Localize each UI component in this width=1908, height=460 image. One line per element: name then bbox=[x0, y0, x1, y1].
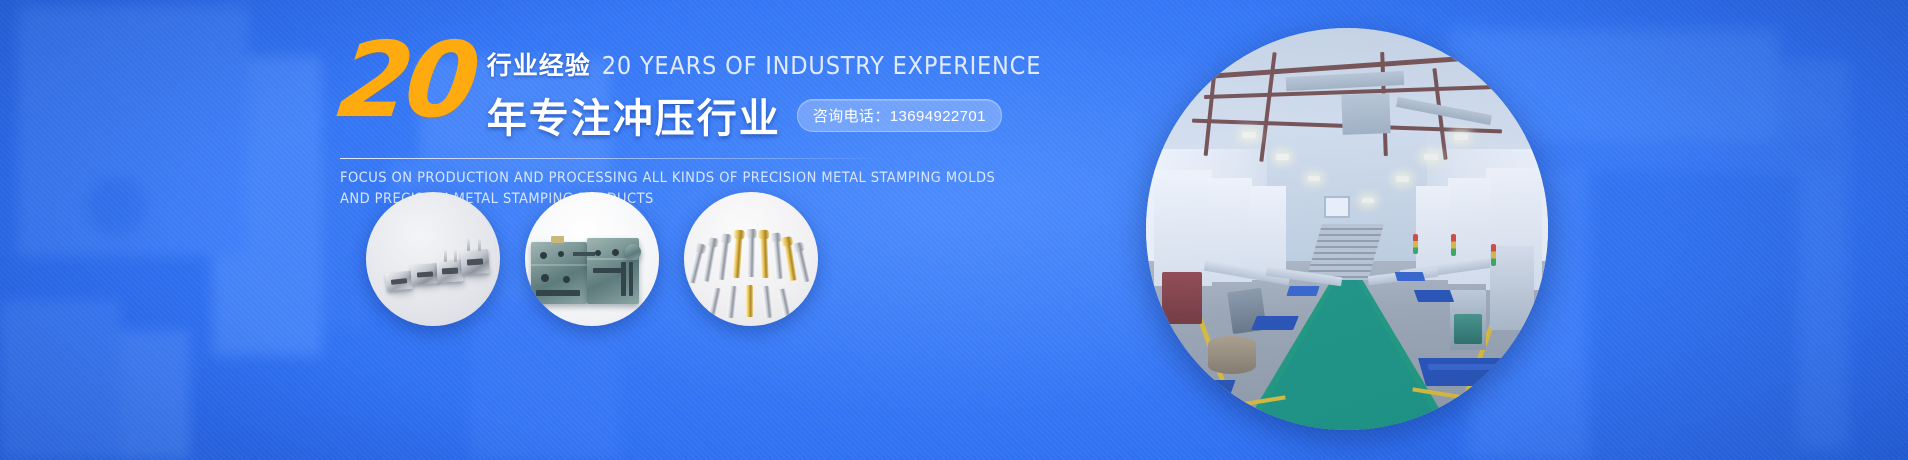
connector-slot bbox=[391, 278, 407, 284]
terminal-pin bbox=[747, 229, 755, 277]
product-circle-group bbox=[366, 192, 818, 326]
ceiling-lamp bbox=[1242, 132, 1256, 138]
terminal-head bbox=[707, 237, 719, 248]
mold-knob bbox=[625, 244, 641, 260]
terminal-pin bbox=[778, 288, 791, 318]
terminal-head bbox=[694, 243, 707, 254]
product-circle-precision-stamping-mold[interactable] bbox=[525, 192, 659, 326]
connector-slot bbox=[416, 271, 433, 277]
mold-slot bbox=[629, 262, 633, 296]
subtitle-line-1: FOCUS ON PRODUCTION AND PROCESSING ALL K… bbox=[340, 168, 1000, 189]
wire-spool bbox=[1208, 336, 1256, 374]
headline-divider bbox=[340, 158, 885, 159]
terminal-head bbox=[770, 233, 782, 243]
connector-pin bbox=[478, 238, 481, 251]
headline-block: 20 行业经验 20 YEARS OF INDUSTRY EXPERIENCE … bbox=[340, 38, 1000, 209]
connector-part bbox=[436, 259, 463, 282]
ceiling-lamp bbox=[1396, 176, 1409, 182]
terminal-head bbox=[720, 233, 732, 243]
mold-hole bbox=[540, 252, 547, 259]
machine-panel-green bbox=[1454, 314, 1482, 344]
promo-banner: 20 行业经验 20 YEARS OF INDUSTRY EXPERIENCE … bbox=[0, 0, 1908, 460]
product-circle-stamped-metal-connectors[interactable] bbox=[366, 192, 500, 326]
mold-hole bbox=[595, 250, 601, 256]
mold-slot bbox=[593, 268, 623, 273]
connector-pin bbox=[454, 250, 457, 262]
mold-slot bbox=[536, 290, 580, 296]
blue-pallet bbox=[1251, 316, 1299, 330]
terminal-head bbox=[781, 236, 793, 247]
air-duct-drop bbox=[1341, 93, 1390, 135]
headline-line-1: 行业经验 20 YEARS OF INDUSTRY EXPERIENCE bbox=[487, 46, 1000, 82]
blue-pallet bbox=[1418, 358, 1518, 386]
terminal-pin bbox=[760, 230, 769, 278]
headline-en-big: 20 YEARS OF INDUSTRY EXPERIENCE bbox=[602, 51, 1041, 80]
andon-light bbox=[1413, 234, 1418, 254]
terminal-pin bbox=[708, 287, 721, 318]
connector-part bbox=[410, 263, 439, 285]
mold-hole bbox=[541, 274, 549, 282]
headline-row: 20 行业经验 20 YEARS OF INDUSTRY EXPERIENCE … bbox=[340, 38, 1000, 144]
terminal-pin bbox=[727, 286, 737, 319]
terminal-pin bbox=[762, 286, 772, 319]
factory-workshop-photo[interactable] bbox=[1146, 28, 1548, 430]
control-cabinet bbox=[1490, 246, 1534, 330]
ceiling-lamp bbox=[1362, 198, 1374, 203]
connector-pin bbox=[467, 238, 470, 251]
blue-pallet bbox=[1414, 290, 1454, 302]
connector-slot bbox=[466, 259, 483, 266]
blue-pallet bbox=[1286, 286, 1319, 296]
headline-cn-small: 行业经验 bbox=[487, 46, 591, 82]
mold-hole bbox=[563, 276, 570, 283]
blue-pallet bbox=[1164, 380, 1235, 400]
mold-hole bbox=[612, 249, 619, 256]
mold-slot bbox=[621, 262, 626, 296]
green-aisle-inner bbox=[1251, 262, 1443, 430]
terminal-head bbox=[746, 229, 757, 238]
terminal-pin bbox=[746, 285, 753, 317]
andon-light bbox=[1491, 244, 1496, 266]
headline-texts: 行业经验 20 YEARS OF INDUSTRY EXPERIENCE 年专注… bbox=[487, 38, 1000, 144]
terminal-head bbox=[733, 230, 745, 240]
mold-rib bbox=[531, 264, 587, 266]
ceiling-lamp bbox=[1308, 176, 1320, 181]
consult-phone-badge[interactable]: 咨询电话：13694922701 bbox=[797, 99, 1002, 132]
terminal-pin bbox=[717, 234, 730, 281]
product-circle-terminal-pins[interactable] bbox=[684, 192, 818, 326]
blue-pallet bbox=[1395, 272, 1426, 281]
terminal-head bbox=[792, 242, 805, 253]
terminal-pin bbox=[733, 230, 743, 278]
ceiling-lamp bbox=[1424, 154, 1438, 160]
connector-part bbox=[385, 271, 413, 292]
background-ghost-circle bbox=[86, 176, 146, 236]
machine-cabinet-red bbox=[1162, 272, 1202, 324]
connector-part bbox=[460, 249, 490, 275]
partition-wall bbox=[1250, 186, 1286, 280]
mold-bridge bbox=[573, 252, 595, 256]
connector-slot bbox=[442, 268, 458, 275]
connector-pin bbox=[444, 250, 447, 262]
headline-line-2: 年专注冲压行业 咨询电话：13694922701 bbox=[487, 86, 1000, 144]
mold-hole bbox=[558, 251, 564, 257]
back-window bbox=[1324, 196, 1350, 218]
terminal-head bbox=[758, 230, 769, 239]
headline-cn-big: 年专注冲压行业 bbox=[487, 86, 781, 144]
andon-light bbox=[1451, 234, 1456, 256]
ceiling-lamp bbox=[1276, 154, 1289, 160]
ceiling-lamp bbox=[1454, 134, 1468, 140]
mold-insert bbox=[551, 236, 564, 243]
years-number: 20 bbox=[335, 38, 478, 123]
blue-pallet-slat bbox=[1427, 364, 1509, 370]
